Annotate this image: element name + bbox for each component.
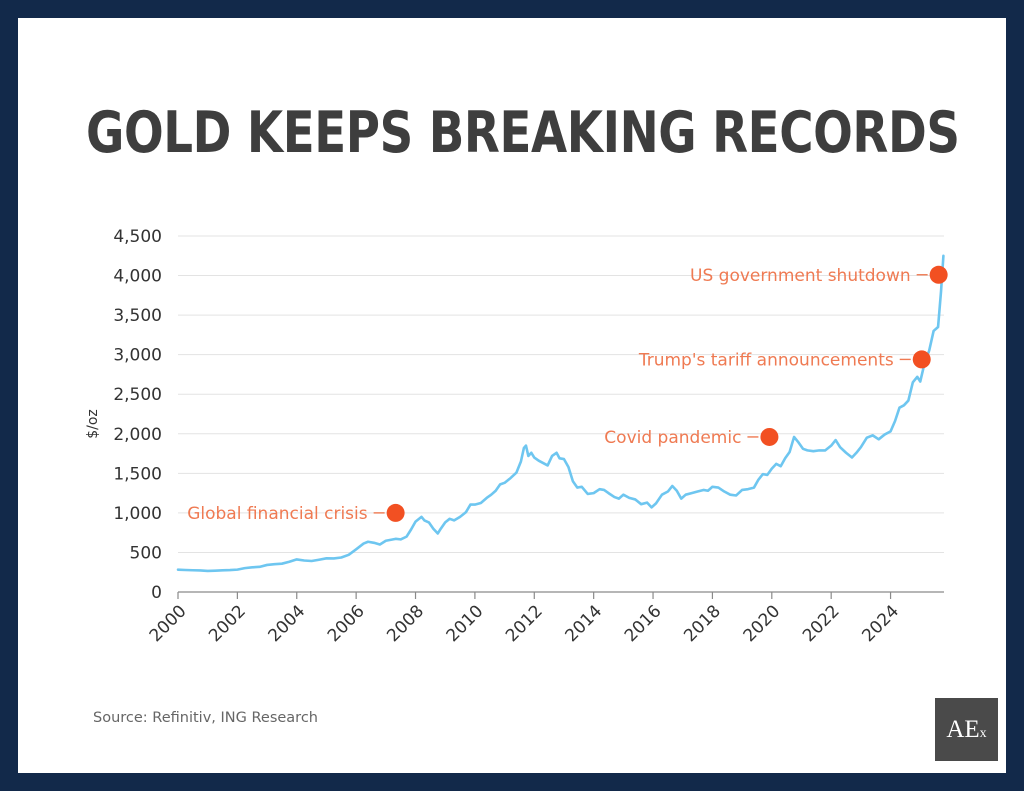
annotation-label: US government shutdown [690,266,911,286]
x-axis-tick-label: 2002 [205,601,250,646]
x-axis-tick-label: 2014 [561,601,606,646]
y-axis-tick-label: 4,000 [113,267,162,287]
annotation-marker-dot [760,428,778,446]
annotation-marker-dot [387,504,405,522]
x-axis-tick-label: 2006 [324,601,369,646]
annotation-label: Global financial crisis [187,504,368,524]
y-axis-tick-label: 3,000 [113,346,162,366]
x-axis-tick-label: 2018 [680,601,725,646]
x-axis-tick-label: 2020 [740,601,785,646]
x-axis-tick-label: 2012 [502,601,547,646]
y-axis-tick-label: 1,000 [113,504,162,524]
y-axis-tick-label: 2,500 [113,385,162,405]
x-axis-tick-label: 2004 [265,601,310,646]
y-axis-tick-label: 500 [130,543,162,563]
annotation-label: Trump's tariff announcements [638,350,894,370]
y-axis-tick-label: 2,000 [113,425,162,445]
gold-price-chart: 05001,0001,5002,0002,5003,0003,5004,0004… [0,0,1024,791]
x-axis-tick-label: 2000 [146,601,191,646]
chart-svg: 05001,0001,5002,0002,5003,0003,5004,0004… [0,0,1024,791]
y-axis-tick-label: 4,500 [113,227,162,247]
y-axis-tick-label: 0 [151,583,162,603]
annotation-marker-dot [913,350,931,368]
x-axis-tick-label: 2016 [621,601,666,646]
annotation-marker-dot [930,266,948,284]
x-axis-tick-label: 2022 [799,601,844,646]
y-axis-title: $/oz [85,409,101,439]
y-axis-tick-label: 3,500 [113,306,162,326]
x-axis-tick-label: 2024 [858,601,903,646]
x-axis-tick-label: 2008 [383,601,428,646]
annotation-label: Covid pandemic [604,428,741,448]
x-axis-tick-label: 2010 [443,601,488,646]
y-axis-tick-label: 1,500 [113,464,162,484]
